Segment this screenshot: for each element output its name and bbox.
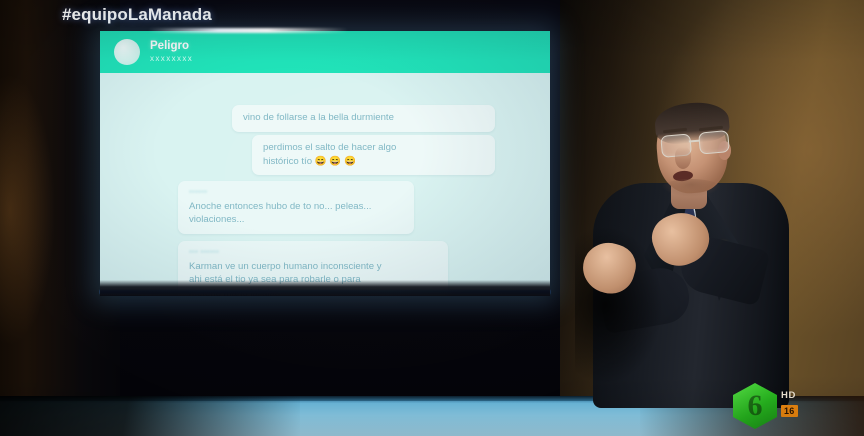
floor-shadow-left (0, 396, 300, 436)
chat-contact-subtitle: xxxxxxxx (150, 55, 193, 64)
projection-screen: vino de follarse a la bella durmiente pe… (100, 31, 550, 296)
broadcast-hashtag: #equipoLaManada (62, 5, 212, 25)
chat-sender-name: ▪▪▪ ▪▪▪▪▪▪ (189, 247, 437, 258)
chat-message-text: perdimos el salto de hacer algo históric… (263, 141, 484, 168)
projection-bottom-falloff (100, 280, 550, 296)
age-rating-badge: 16 (781, 405, 798, 417)
chat-message-text: vino de follarse a la bella durmiente (243, 111, 484, 125)
chat-message-list[interactable]: vino de follarse a la bella durmiente pe… (100, 73, 550, 296)
avatar (114, 39, 140, 65)
hd-label: HD (781, 390, 796, 401)
lens-right (698, 130, 730, 155)
chat-bubble: perdimos el salto de hacer algo históric… (252, 135, 495, 175)
speaker-figure (575, 95, 805, 405)
wall-light-glow (0, 40, 70, 370)
chat-sender-name: ▪▪▪▪▪▪ (189, 187, 403, 198)
chat-contact-name: Peligro (150, 40, 193, 52)
chat-bubble: vino de follarse a la bella durmiente (232, 105, 495, 132)
projection-top-glare (148, 28, 348, 33)
channel-mark: 6 (733, 383, 777, 429)
channel-number: 6 (733, 383, 777, 429)
channel-logo: 6 HD 16 (733, 383, 777, 429)
broadcast-frame: #equipoLaManada vino de follarse a la be… (0, 0, 864, 436)
nose (675, 147, 691, 169)
chat-message-text: Anoche entonces hubo de to no... peleas.… (189, 200, 403, 227)
chin-shadow (661, 179, 721, 197)
chat-bubble: ▪▪▪▪▪▪ Anoche entonces hubo de to no... … (178, 181, 414, 234)
chat-header: Peligro xxxxxxxx (100, 31, 550, 73)
